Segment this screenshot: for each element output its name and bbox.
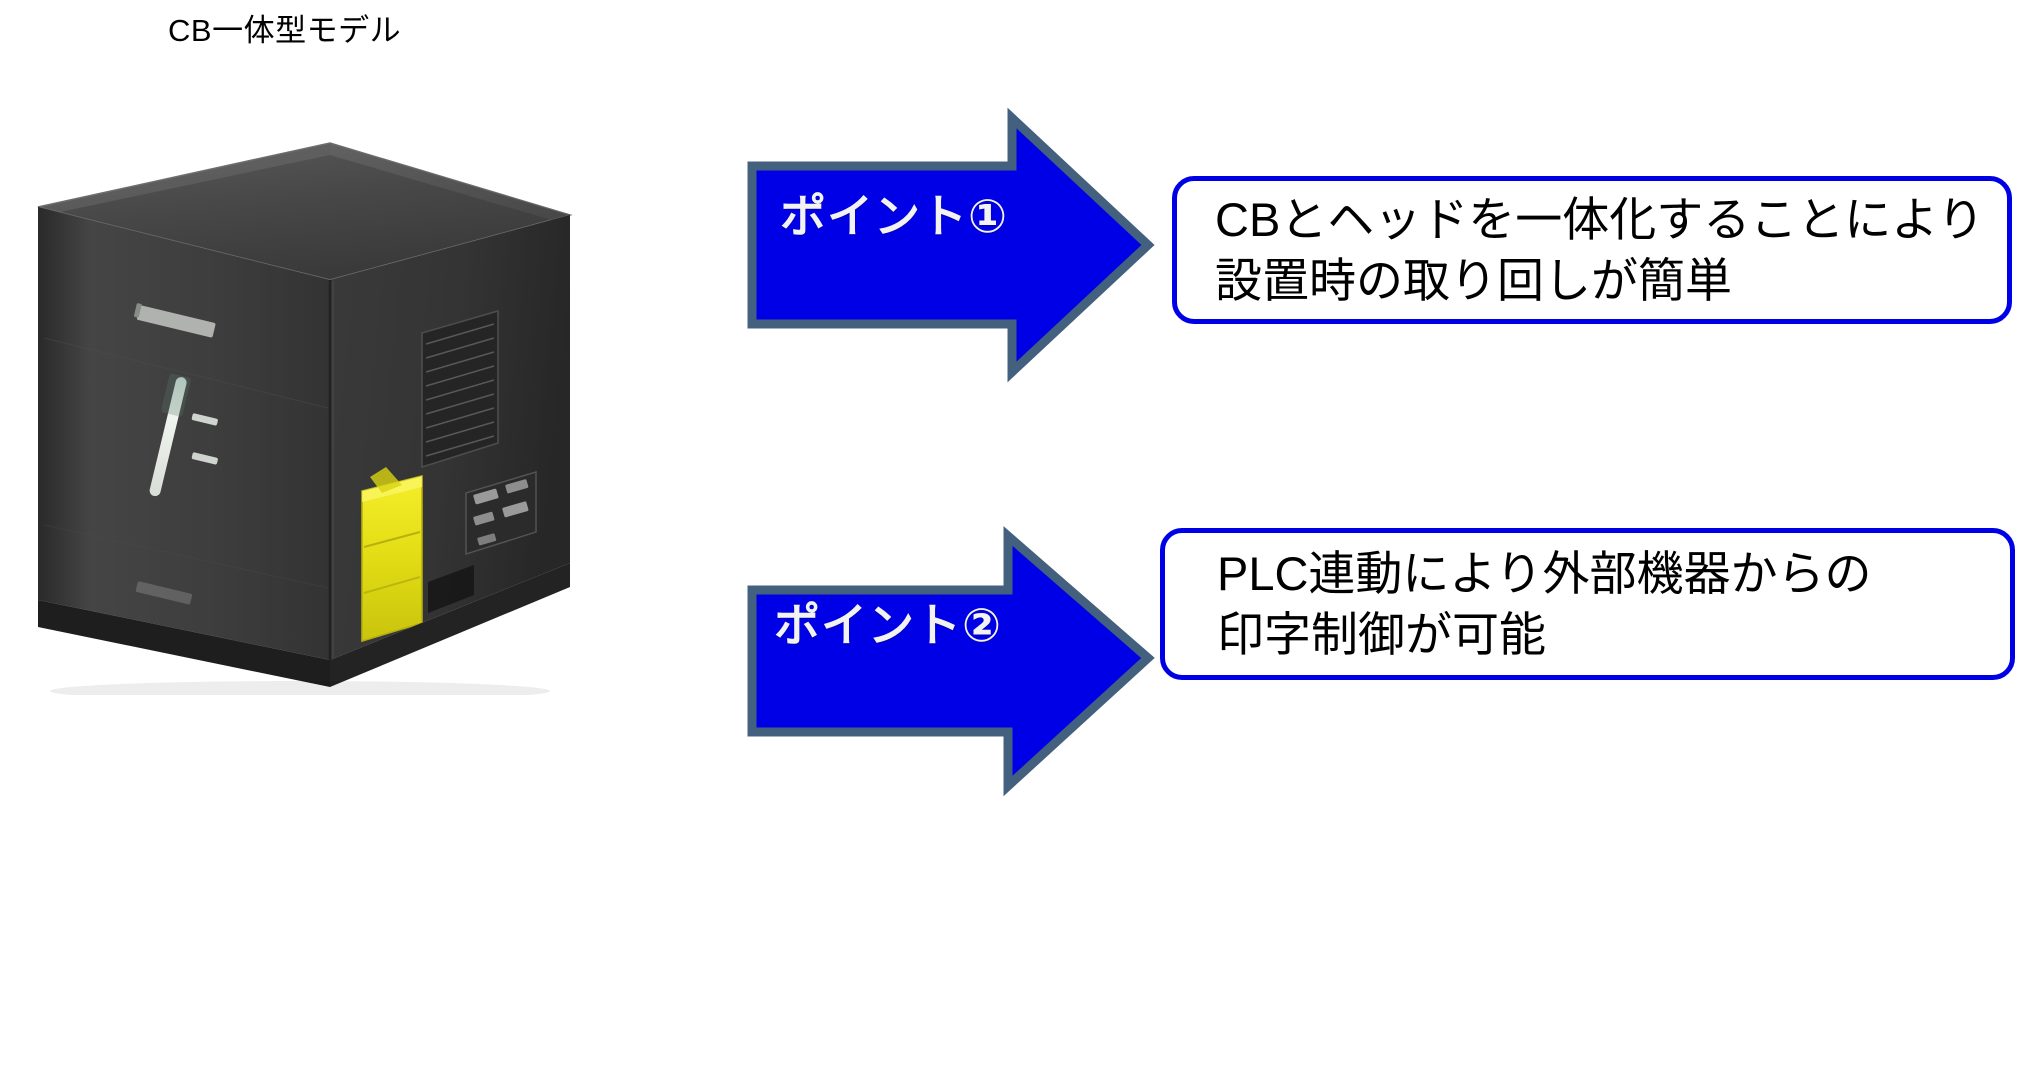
yellow-label — [362, 467, 422, 641]
page-title: CB一体型モデル — [168, 12, 401, 51]
slide-canvas: CB一体型モデル — [0, 0, 2035, 1078]
callout-point-1-line-1: CBとヘッドを一体化することにより — [1215, 189, 2007, 250]
product-photo — [30, 95, 590, 695]
arrow-point-1[interactable]: ポイント① — [740, 108, 1160, 383]
callout-point-2-line-2: 印字制御が可能 — [1217, 604, 2010, 665]
arrow-shape-2 — [740, 528, 1160, 803]
arrow-shape-1 — [740, 108, 1160, 383]
callout-point-2[interactable]: PLC連動により外部機器からの 印字制御が可能 — [1160, 528, 2015, 680]
vent-grille — [422, 311, 498, 467]
callout-point-1-line-2: 設置時の取り回しが簡単 — [1215, 250, 2007, 311]
callout-point-2-line-1: PLC連動により外部機器からの — [1217, 543, 2010, 604]
arrow-point-2-label: ポイント② — [774, 602, 1002, 648]
arrow-point-1-label: ポイント① — [780, 193, 1008, 239]
arrow-point-2[interactable]: ポイント② — [740, 528, 1160, 803]
printer-illustration — [30, 95, 590, 695]
callout-point-1[interactable]: CBとヘッドを一体化することにより 設置時の取り回しが簡単 — [1172, 176, 2012, 324]
